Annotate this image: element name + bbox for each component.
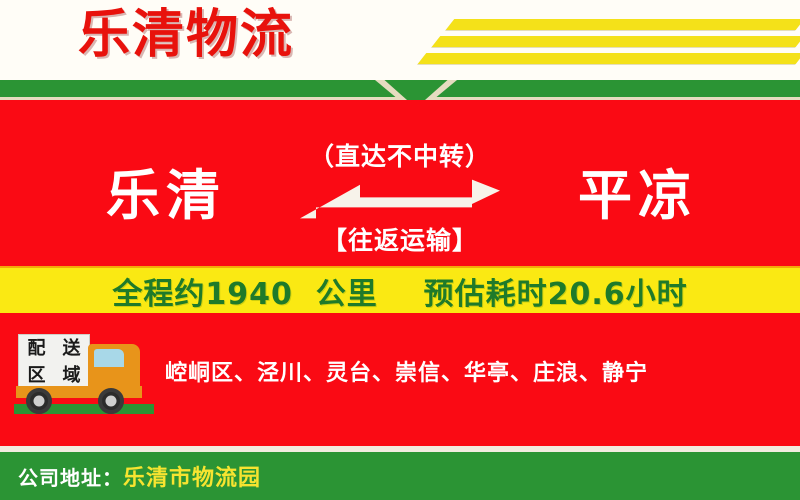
wheel-hub bbox=[106, 396, 117, 407]
stripe-2 bbox=[432, 36, 800, 47]
truck-cargo-box: 配 送 区 域 bbox=[18, 334, 90, 390]
coverage-district-list: 崆峒区、泾川、灵台、崇信、华亭、庄浪、静宁 bbox=[165, 358, 765, 390]
truck-wheel-front bbox=[98, 388, 124, 414]
company-address-label: 公司地址： bbox=[18, 462, 123, 491]
trip-info-text: 全程约1940 公里 预估耗时20.6小时 bbox=[112, 269, 687, 313]
route-middle: （直达不中转） 【往返运输】 bbox=[280, 128, 520, 258]
destination-city: 平凉 bbox=[518, 164, 758, 228]
cargo-char-4: 域 bbox=[63, 366, 81, 386]
truck-wheel-rear bbox=[26, 388, 52, 414]
route-note-roundtrip: 【往返运输】 bbox=[280, 224, 520, 258]
logistics-banner: 乐清物流 乐清 （直达不中转） 【往返运输】 平凉 全程约1940 公里 预估耗… bbox=[0, 0, 800, 500]
route-note-direct: （直达不中转） bbox=[280, 140, 520, 174]
trip-info-bar: 全程约1940 公里 预估耗时20.6小时 bbox=[0, 266, 800, 313]
origin-city: 乐清 bbox=[46, 164, 286, 228]
cargo-char-3: 区 bbox=[28, 366, 46, 386]
bidirectional-arrow-icon bbox=[300, 178, 500, 220]
delivery-truck-icon: 配 送 区 域 bbox=[14, 328, 154, 424]
route-section: 乐清 （直达不中转） 【往返运输】 平凉 bbox=[0, 128, 800, 258]
banner-header: 乐清物流 bbox=[0, 0, 800, 80]
brand-title: 乐清物流 bbox=[78, 4, 294, 66]
stripe-3 bbox=[418, 53, 800, 64]
company-address-value: 乐清市物流园 bbox=[123, 460, 261, 492]
truck-cab-window bbox=[94, 349, 124, 367]
cargo-char-1: 配 bbox=[28, 339, 46, 359]
banner-footer: 公司地址： 乐清市物流园 bbox=[0, 452, 800, 500]
decorative-stripes bbox=[420, 8, 800, 70]
arrow-shape bbox=[300, 178, 500, 220]
cargo-label-grid: 配 送 区 域 bbox=[19, 335, 89, 389]
stripe-1 bbox=[446, 19, 800, 30]
cargo-char-2: 送 bbox=[63, 339, 81, 359]
wheel-hub bbox=[34, 396, 45, 407]
